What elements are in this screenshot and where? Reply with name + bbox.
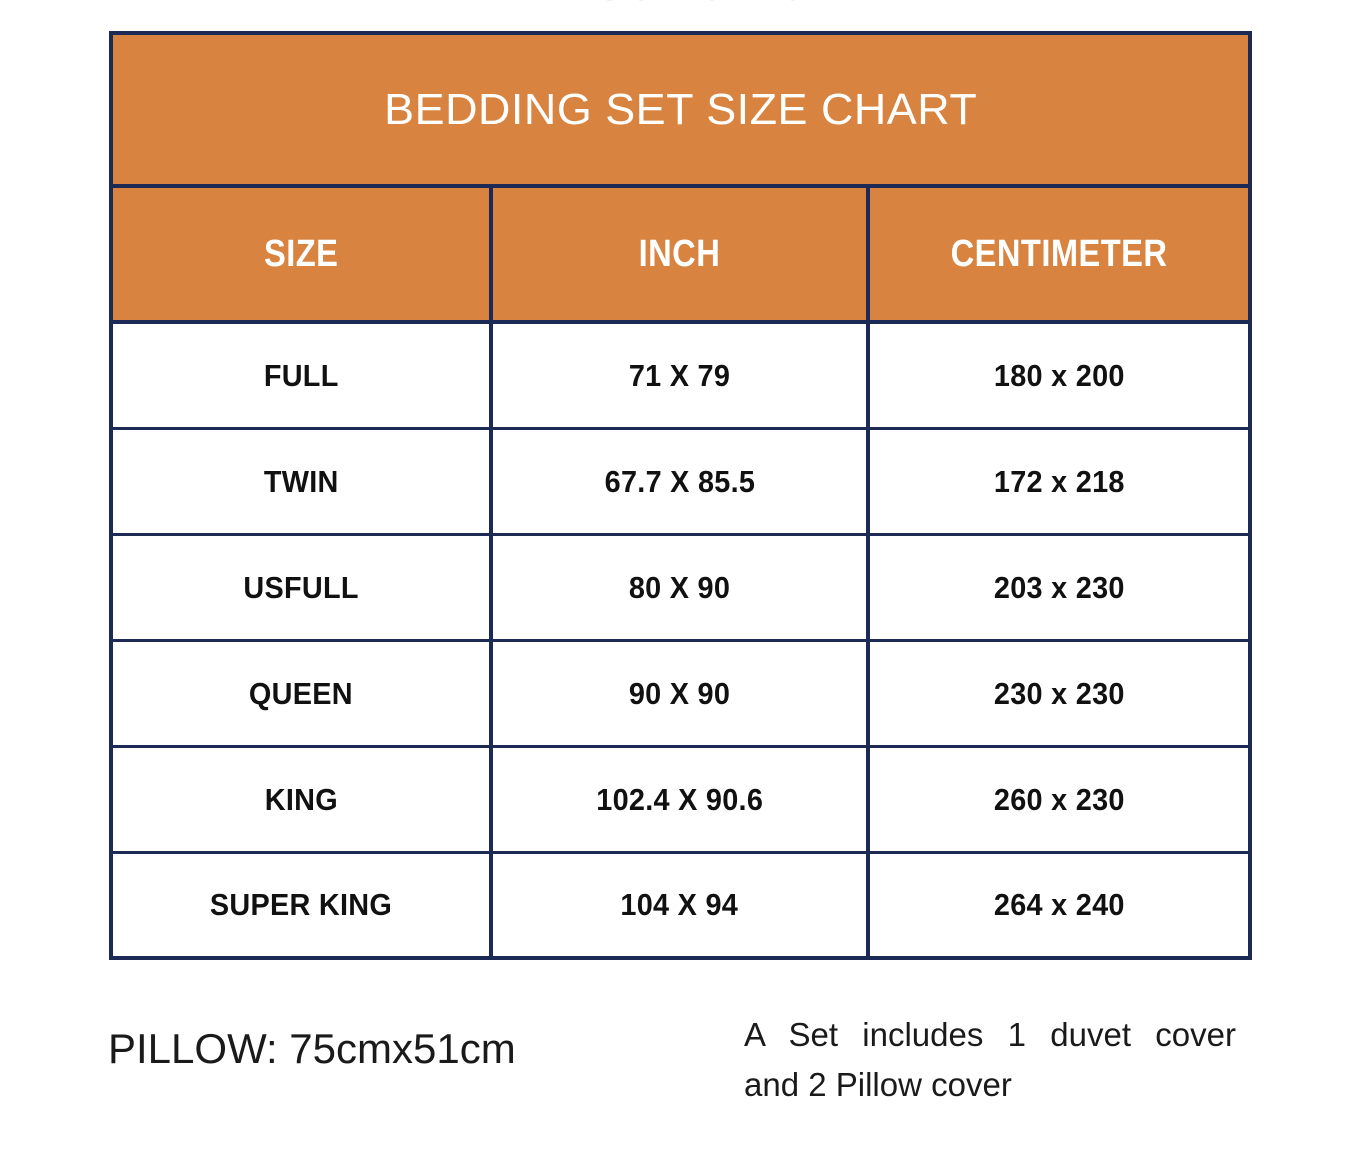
table-row: USFULL 80 X 90 203 x 230 [113, 536, 1248, 642]
cell-size-value: TWIN [264, 464, 339, 500]
table-row: QUEEN 90 X 90 230 x 230 [113, 642, 1248, 748]
cell-size: QUEEN [113, 642, 489, 745]
cell-inch: 67.7 X 85.5 [489, 430, 870, 533]
cell-inch: 104 X 94 [489, 854, 870, 956]
cell-size: USFULL [113, 536, 489, 639]
cell-centimeter-value: 180 x 200 [994, 358, 1125, 394]
cell-size-value: QUEEN [249, 676, 353, 712]
column-header-centimeter-label: CENTIMETER [951, 233, 1168, 276]
pillow-size-note: PILLOW: 75cmx51cm [108, 1025, 516, 1073]
set-contents-note: A Set includes 1 duvet cover and 2 Pillo… [744, 1010, 1236, 1109]
cell-centimeter-value: 230 x 230 [994, 676, 1125, 712]
cell-size: FULL [113, 324, 489, 427]
cell-centimeter-value: 172 x 218 [994, 464, 1125, 500]
table-row: TWIN 67.7 X 85.5 172 x 218 [113, 430, 1248, 536]
set-contents-note-line1: A Set includes 1 duvet cover [744, 1010, 1236, 1060]
cell-centimeter: 203 x 230 [870, 536, 1248, 639]
cell-centimeter: 230 x 230 [870, 642, 1248, 745]
cell-centimeter-value: 203 x 230 [994, 570, 1125, 606]
cell-inch: 90 X 90 [489, 642, 870, 745]
table-row: FULL 71 X 79 180 x 200 [113, 324, 1248, 430]
cell-size: SUPER KING [113, 854, 489, 956]
footer-notes: PILLOW: 75cmx51cm A Set includes 1 duvet… [0, 1000, 1368, 1140]
cell-centimeter: 172 x 218 [870, 430, 1248, 533]
cell-inch: 80 X 90 [489, 536, 870, 639]
cell-centimeter: 264 x 240 [870, 854, 1248, 956]
cell-size-value: USFULL [243, 570, 358, 606]
clipped-top-headline: BEDDING SET SIZE CHART [0, 0, 1368, 8]
column-header-size: SIZE [113, 188, 489, 320]
cell-size-value: KING [264, 782, 337, 818]
chart-title-band: BEDDING SET SIZE CHART [113, 35, 1248, 188]
chart-title: BEDDING SET SIZE CHART [384, 88, 977, 132]
cell-size-value: FULL [264, 358, 339, 394]
table-row: SUPER KING 104 X 94 264 x 240 [113, 854, 1248, 956]
set-contents-note-line2: and 2 Pillow cover [744, 1060, 1236, 1110]
table-header-row: SIZE INCH CENTIMETER [113, 188, 1248, 324]
cell-inch-value: 90 X 90 [629, 676, 730, 712]
cell-inch-value: 80 X 90 [629, 570, 730, 606]
cell-size-value: SUPER KING [210, 887, 392, 923]
column-header-inch-label: INCH [639, 233, 721, 276]
cell-centimeter: 180 x 200 [870, 324, 1248, 427]
cell-centimeter-value: 260 x 230 [994, 782, 1125, 818]
table-row: KING 102.4 X 90.6 260 x 230 [113, 748, 1248, 854]
cell-inch-value: 67.7 X 85.5 [604, 464, 755, 500]
column-header-inch: INCH [489, 188, 870, 320]
cell-inch-value: 71 X 79 [629, 358, 730, 394]
cell-centimeter: 260 x 230 [870, 748, 1248, 851]
cell-inch: 71 X 79 [489, 324, 870, 427]
cell-size: KING [113, 748, 489, 851]
cell-inch-value: 104 X 94 [621, 887, 739, 923]
column-header-centimeter: CENTIMETER [870, 188, 1248, 320]
size-chart-table: BEDDING SET SIZE CHART SIZE INCH CENTIME… [109, 31, 1252, 960]
cell-inch: 102.4 X 90.6 [489, 748, 870, 851]
cell-inch-value: 102.4 X 90.6 [596, 782, 763, 818]
column-header-size-label: SIZE [264, 233, 338, 276]
cell-size: TWIN [113, 430, 489, 533]
cell-centimeter-value: 264 x 240 [994, 887, 1125, 923]
